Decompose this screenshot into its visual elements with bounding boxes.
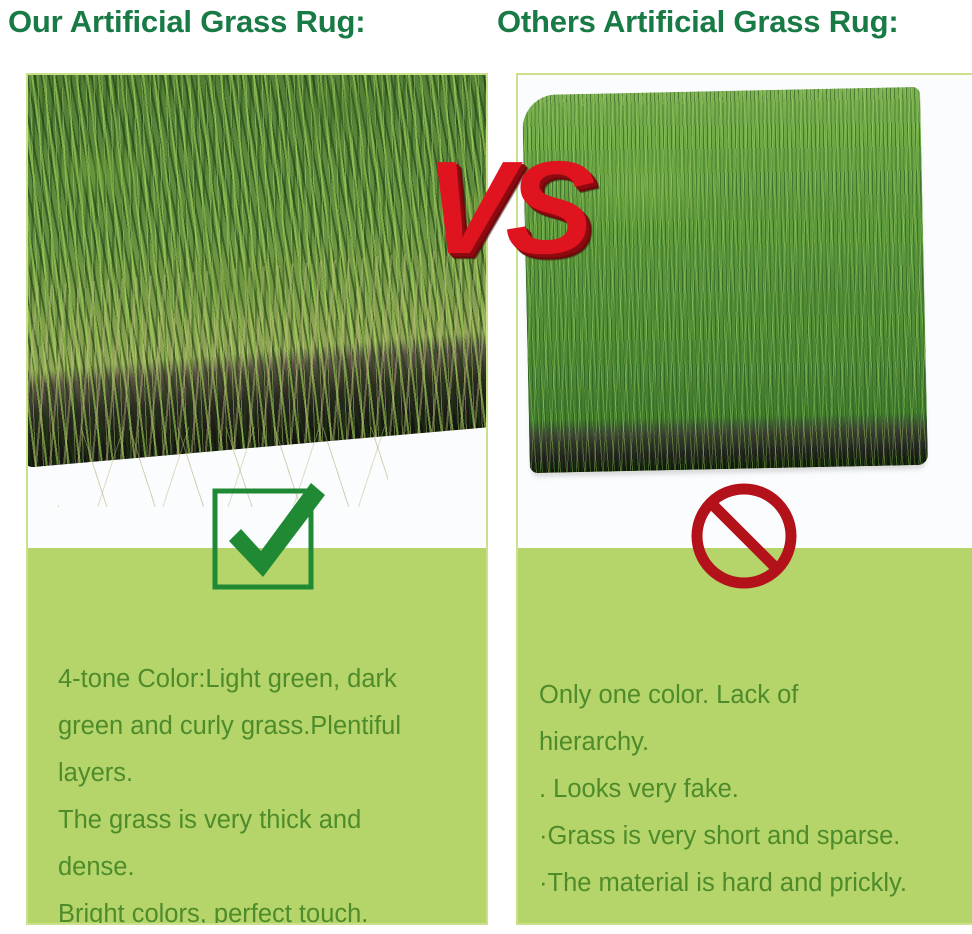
prohibition-icon <box>689 481 799 591</box>
rug-sample-thick-grass <box>28 75 486 468</box>
list-item: The grass is very thick and <box>58 797 401 844</box>
list-item: layers. <box>58 750 401 797</box>
feature-list-ours: 4-tone Color:Light green, dark green and… <box>58 656 401 925</box>
list-item: . Looks very fake. <box>539 766 907 813</box>
list-item: Bright colors, perfect touch. <box>58 891 401 925</box>
feature-list-panel-ours: 4-tone Color:Light green, dark green and… <box>28 548 486 923</box>
check-mark-icon <box>211 479 327 591</box>
page-title-our-rug: Our Artificial Grass Rug: <box>8 0 365 50</box>
versus-badge: VS <box>422 142 591 274</box>
list-item: ·Grass is very short and sparse. <box>539 813 907 860</box>
list-item: 4-tone Color:Light green, dark <box>58 656 401 703</box>
list-item: hierarchy. <box>539 719 907 766</box>
product-photo-our-rug <box>28 75 486 548</box>
page-title-others-rug: Others Artificial Grass Rug: <box>497 0 899 50</box>
grass-tone-variation <box>28 75 486 468</box>
feature-list-others: Only one color. Lack of hierarchy. . Loo… <box>539 672 907 907</box>
list-item: ·The material is hard and prickly. <box>539 860 907 907</box>
list-item: Only one color. Lack of <box>539 672 907 719</box>
feature-list-panel-others: Only one color. Lack of hierarchy. . Loo… <box>518 548 972 923</box>
list-item: green and curly grass.Plentiful <box>58 703 401 750</box>
list-item: dense. <box>58 844 401 891</box>
